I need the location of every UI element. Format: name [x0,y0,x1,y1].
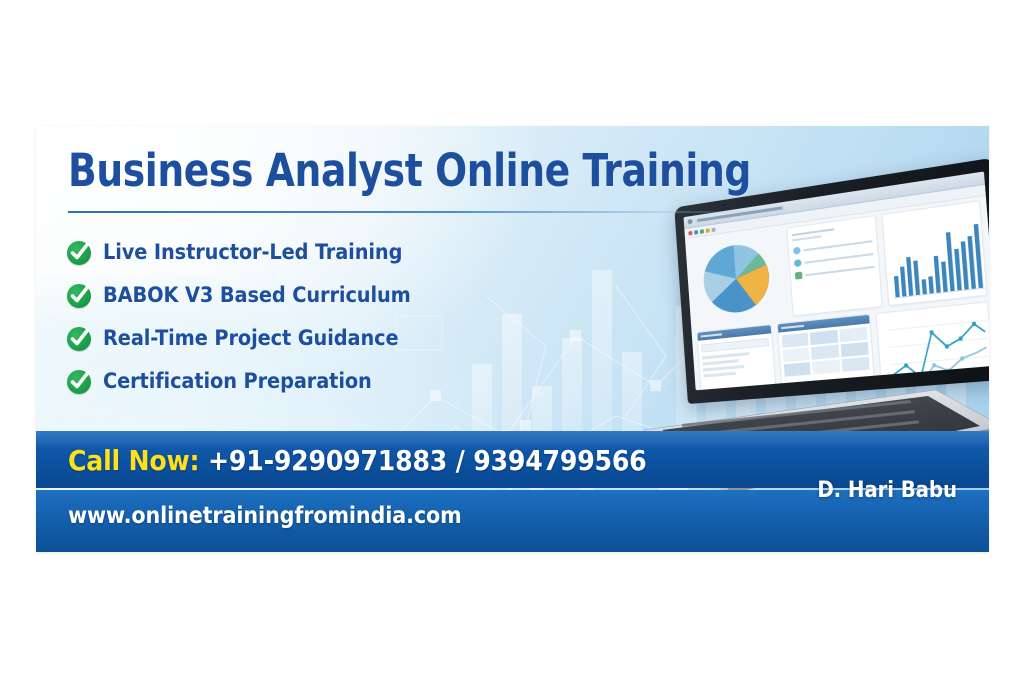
dashboard-filter-panel [696,324,777,390]
toolbar-icon-4 [706,228,710,233]
list-item-label: Live Instructor-Led Training [103,240,402,265]
background-bar-chart-decor [466,166,986,456]
check-circle-icon [66,368,93,395]
presenter-name: D. Hari Babu [817,478,957,503]
check-circle-icon [66,282,93,309]
dashboard-legend-panel [786,215,883,317]
list-item: Live Instructor-Led Training [66,232,526,273]
promo-banner: Business Analyst Online Training Live In… [36,126,989,552]
page-title: Business Analyst Online Training [68,148,775,193]
dashboard-pie-chart [690,228,788,327]
list-item: Certification Preparation [66,361,526,402]
dashboard-data-table [777,314,877,391]
dashboard-bar-chart [881,200,987,306]
laptop-screen [683,171,989,390]
list-item-label: Certification Preparation [103,369,372,394]
phone-number[interactable]: +91-9290971883 / 9394799566 [208,444,647,477]
feature-list: Live Instructor-Led Training BABOK V3 Ba… [66,232,526,404]
list-item: BABOK V3 Based Curriculum [66,275,526,316]
check-circle-icon [66,325,93,352]
page-canvas: Business Analyst Online Training Live In… [0,0,1024,683]
title-underline [68,211,768,213]
toolbar-icon-5 [711,227,715,232]
list-item-label: BABOK V3 Based Curriculum [103,283,411,308]
list-item-label: Real-Time Project Guidance [103,326,399,351]
toolbar-icon-2 [694,230,698,235]
toolbar-icon-3 [700,229,704,234]
list-item: Real-Time Project Guidance [66,318,526,359]
toolbar-icon-1 [688,230,692,235]
website-url[interactable]: www.onlinetrainingfromindia.com [68,503,462,529]
call-now-text: Call Now: +91-9290971883 / 9394799566 [68,444,647,477]
check-circle-icon [66,239,93,266]
dashboard-line-chart [875,301,989,390]
app-icon [688,219,693,225]
call-now-label: Call Now: [68,444,199,477]
dashboard-body [685,194,989,391]
